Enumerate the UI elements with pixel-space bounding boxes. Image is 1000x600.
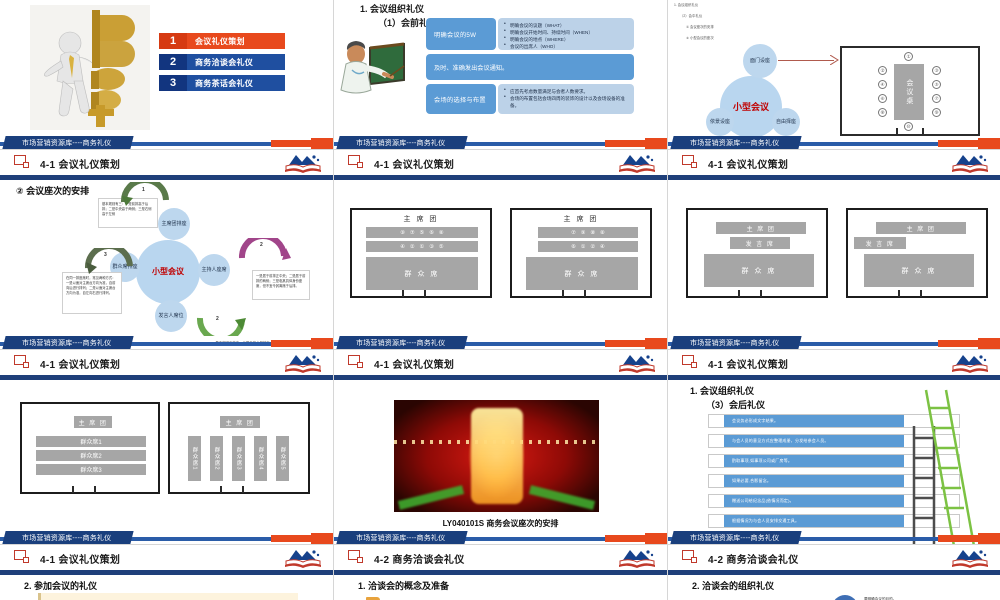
- slide-heading-2: （3）会后礼仪: [706, 398, 765, 411]
- audience-col-1: 群众席1: [188, 436, 201, 481]
- slide-title: 4-2 商务洽谈会礼仪: [374, 551, 465, 566]
- mountain-book-logo: [283, 153, 323, 173]
- footer-text: 市场营销资源库----商务礼仪: [22, 138, 111, 148]
- arc-number-3: 3: [104, 252, 107, 258]
- square-bullet-icon: [348, 355, 364, 369]
- toc-item-1[interactable]: 1 会议礼仪策划: [158, 32, 286, 50]
- slide-footer: 市场营销资源库----商务礼仪: [668, 135, 1000, 149]
- post-item-2: 与会人员的意见方式应整理成册，分发给参会人员。: [724, 435, 904, 447]
- seat-6: ⑥: [878, 94, 887, 103]
- slide-heading: 2. 参加会议的礼仪: [24, 579, 97, 592]
- arc-number-4: 2: [216, 316, 219, 322]
- slide-thumbnail-grid: 1 会议礼仪策划 2 商务洽谈会礼仪 3 商务茶话会礼仪 市场营销资源库----…: [0, 0, 1000, 600]
- satellite-top: 面门设座: [743, 44, 777, 78]
- seating-chart-left: 主 席 团 ⑨⑦ ⑤⑥ ⑧ ④② ①③ ⑤ 群 众 席: [350, 208, 492, 298]
- post-item-1: 会议务必形成文字结果。: [724, 415, 904, 427]
- seat-3: ③: [932, 66, 941, 75]
- mountain-book-logo: [617, 153, 657, 173]
- toc-item-2[interactable]: 2 商务洽谈会礼仪: [158, 53, 286, 71]
- slide-header: 4-1 会议礼仪策划: [0, 150, 333, 176]
- post-item-4: 如果必要,合影留念。: [724, 475, 904, 487]
- audience-row-1: 群众席1: [36, 436, 146, 447]
- toc-list: 1 会议礼仪策划 2 商务洽谈会礼仪 3 商务茶话会礼仪: [158, 32, 286, 95]
- node-presidium: 主席团排座: [158, 208, 190, 240]
- video-caption: LY040101S 商务会议座次的安排: [334, 518, 667, 529]
- toc-number: 1: [159, 33, 187, 49]
- presidium-row-back: ⑨⑦ ⑤⑥ ⑧: [366, 227, 478, 238]
- seating-chart-left: 主 席 团 发 言 席 群 众 席: [686, 208, 828, 298]
- slide-thumbnail-5[interactable]: 4-1 会议礼仪策划 主 席 团 ⑨⑦ ⑤⑥ ⑧: [334, 150, 668, 350]
- slide-footer: 市场营销资源库----商务礼仪: [668, 335, 1000, 349]
- slide-heading-1: 1. 会议组织礼仪: [690, 384, 754, 397]
- slide-header: 4-2 商务洽谈会礼仪: [668, 545, 1000, 571]
- seating-chart-horizontal: 主 席 团 群众席1 群众席2 群众席3: [20, 402, 160, 494]
- presidium-label: 主 席 团: [512, 212, 650, 225]
- mountain-book-logo: [950, 153, 990, 173]
- presidium-label: 主 席 团: [352, 212, 490, 225]
- slide-title: 4-1 会议礼仪策划: [708, 356, 788, 371]
- seat-7: ⑦: [932, 94, 941, 103]
- arrow-head-icon: [830, 55, 840, 65]
- audience-col-4: 群众席4: [254, 436, 267, 481]
- slide-heading: 1. 洽谈会的概念及准备: [358, 579, 449, 592]
- detail-item: 明确会议开始时间、持续时间（WHEN）: [504, 29, 628, 36]
- outline-item: 1. 会议组织礼仪: [674, 2, 714, 7]
- seat-5: ⑤: [932, 80, 941, 89]
- slide-thumbnail-12[interactable]: 4-2 商务洽谈会礼仪 2. 洽谈会的组织礼仪 会议主题 要明确会议的目的。: [668, 545, 1000, 600]
- teacher-illustration: [340, 40, 418, 90]
- detail-item: 明确会议的地点（WHERE）: [504, 36, 628, 43]
- mountain-book-logo: [617, 548, 657, 568]
- slide-title: 4-1 会议礼仪策划: [40, 356, 120, 371]
- presidium-block: 主 席 团: [876, 222, 966, 234]
- arrow-arc-2-icon: [238, 238, 292, 264]
- arrow-arc-3-icon: [84, 248, 136, 274]
- slide-title: 4-1 会议礼仪策划: [40, 156, 120, 171]
- slide-thumbnail-10[interactable]: 4-1 会议礼仪策划 2. 参加会议的礼仪: [0, 545, 334, 600]
- square-bullet-icon: [14, 355, 30, 369]
- outline-list: 1. 会议组织礼仪 （2）会中礼仪 ① 会议座次的安排 ② 小型会议的座次: [674, 2, 714, 46]
- note-3: 在同一排座席时，常见两种方式：一是以面对主席台方向为准，自前向后进行排列；二是以…: [62, 272, 122, 314]
- content-box: [38, 593, 298, 600]
- detail-item: 会议的出席人（WHO）: [504, 43, 628, 50]
- slide-thumbnail-8[interactable]: 4-1 会议礼仪策划 LY040101S 商务会议座次的安排 市场营销资源库--…: [334, 350, 668, 545]
- audience-row-3: 群众席3: [36, 464, 146, 475]
- slide-footer: 市场营销资源库----商务礼仪: [334, 530, 667, 544]
- presidium-row-front: ⑥① ②④: [538, 241, 638, 252]
- speaker-block: 发 言 席: [730, 237, 790, 249]
- footer-text: 市场营销资源库----商务礼仪: [690, 533, 779, 543]
- footer-text: 市场营销资源库----商务礼仪: [356, 338, 445, 348]
- presidium-row-front: ④② ①③ ⑤: [366, 241, 478, 252]
- video-thumbnail[interactable]: [394, 400, 599, 512]
- slide-thumbnail-2[interactable]: 1. 会议组织礼仪 （1）会前礼仪 明确会议的5W: [334, 0, 668, 150]
- slide-heading-1: 1. 会议组织礼仪: [360, 2, 424, 15]
- slide-title: 4-1 会议礼仪策划: [708, 156, 788, 171]
- satellite-right: 自由择座: [772, 108, 800, 136]
- slide-thumbnail-7[interactable]: 4-1 会议礼仪策划 主 席 团 群众席1 群众席2 群众席3: [0, 350, 334, 545]
- slide-title: 4-1 会议礼仪策划: [40, 551, 120, 566]
- slide-title: 4-2 商务洽谈会礼仪: [708, 551, 799, 566]
- seat-1: ①: [904, 52, 913, 61]
- speaker-block: 发 言 席: [854, 237, 906, 249]
- slide-header: 4-1 会议礼仪策划: [668, 150, 1000, 176]
- slide-thumbnail-11[interactable]: 4-2 商务洽谈会礼仪 1. 洽谈会的概念及准备: [334, 545, 668, 600]
- arrow-arc-4-icon: [196, 310, 248, 336]
- arrow-arc-1-icon: [120, 182, 174, 206]
- presidium-block: 主 席 团: [716, 222, 806, 234]
- node-speaker: 发言人席位: [155, 300, 187, 332]
- audience-col-5: 群众席5: [276, 436, 289, 481]
- audience-col-2: 群众席2: [210, 436, 223, 481]
- presidium-block: 主 席 团: [74, 416, 112, 428]
- audience-block: 群 众 席: [366, 257, 478, 290]
- toc-item-3[interactable]: 3 商务茶话会礼仪: [158, 74, 286, 92]
- audience-row-2: 群众席2: [36, 450, 146, 461]
- block-details-3: 应首先考虑数量满足与会者人数要求。 会场的布置包括会场四周的装饰的设计以及会场设…: [498, 84, 634, 114]
- post-item-6: 根据情况为与会人员安排交通工具。: [724, 515, 904, 527]
- slide-header: 4-1 会议礼仪策划: [0, 545, 333, 571]
- slide-header: 4-1 会议礼仪策划: [334, 350, 667, 376]
- meeting-table-label: 会议桌: [894, 64, 924, 120]
- slide-title: 4-1 会议礼仪策划: [374, 356, 454, 371]
- square-bullet-icon: [682, 355, 698, 369]
- outline-item: （2）会中礼仪: [680, 13, 714, 18]
- outline-item: ② 小型会议的座次: [686, 35, 714, 40]
- toc-label: 会议礼仪策划: [187, 33, 285, 49]
- footer-text: 市场营销资源库----商务礼仪: [22, 338, 111, 348]
- arc-number-1: 1: [142, 187, 145, 193]
- seat-8: ⑧: [878, 108, 887, 117]
- slide-thumbnail-9[interactable]: 4-1 会议礼仪策划 1. 会议组织礼仪 （3）会后礼仪 会议务必形成文字结果。…: [668, 350, 1000, 545]
- audience-block: 群 众 席: [704, 254, 814, 287]
- square-bullet-icon: [14, 550, 30, 564]
- audience-block: 群 众 席: [526, 257, 638, 290]
- footer-text: 市场营销资源库----商务礼仪: [690, 138, 779, 148]
- seat-2: ②: [878, 66, 887, 75]
- seat-9: ⑨: [932, 108, 941, 117]
- node-host: 主持人座席: [198, 254, 230, 286]
- square-bullet-icon: [14, 155, 30, 169]
- mountain-book-logo: [617, 353, 657, 373]
- slide-subtitle: ② 会议座次的安排: [16, 184, 89, 197]
- topic-badge: 会议主题: [832, 595, 858, 600]
- post-item-5: 赠送公司给纪念品(依情况而定)。: [724, 495, 904, 507]
- mountain-book-logo: [283, 548, 323, 568]
- square-bullet-icon: [348, 550, 364, 564]
- square-bullet-icon: [682, 550, 698, 564]
- presidium-block: 主 席 团: [220, 416, 260, 428]
- slide-header: 4-1 会议礼仪策划: [334, 150, 667, 176]
- slide-header: 4-2 商务洽谈会礼仪: [334, 545, 667, 571]
- best-hero-image: [30, 5, 150, 130]
- toc-label: 商务洽谈会礼仪: [187, 54, 285, 70]
- square-bullet-icon: [348, 155, 364, 169]
- detail-item: 明确会议的议题（WHAT）: [504, 22, 628, 29]
- presidium-row-back: ⑦⑨ ⑩⑧: [538, 227, 638, 238]
- satellite-left: 依景设座: [706, 108, 734, 136]
- toc-label: 商务茶话会礼仪: [187, 75, 285, 91]
- footer-text: 市场营销资源库----商务礼仪: [22, 533, 111, 543]
- toc-number: 2: [159, 54, 187, 70]
- square-bullet-icon: [682, 155, 698, 169]
- slide-footer: 市场营销资源库----商务礼仪: [0, 135, 333, 149]
- slide-header: 4-1 会议礼仪策划: [0, 350, 333, 376]
- slide-thumbnail-3[interactable]: 1. 会议组织礼仪 （2）会中礼仪 ① 会议座次的安排 ② 小型会议的座次 小型…: [668, 0, 1000, 150]
- slide-thumbnail-1[interactable]: 1 会议礼仪策划 2 商务洽谈会礼仪 3 商务茶话会礼仪 市场营销资源库----…: [0, 0, 334, 150]
- slide-thumbnail-4[interactable]: 4-1 会议礼仪策划 ② 会议座次的安排 小型会议 主席团排座 主持人座席 群众…: [0, 150, 334, 350]
- footer-text: 市场营销资源库----商务礼仪: [356, 533, 445, 543]
- toc-number: 3: [159, 75, 187, 91]
- detail-item: 会场的布置包括会场四周的装饰的设计以及会场设备的准备。: [504, 95, 628, 109]
- pointer-arrow: [778, 60, 834, 61]
- slide-footer: 市场营销资源库----商务礼仪: [0, 530, 333, 544]
- footer-text: 市场营销资源库----商务礼仪: [690, 338, 779, 348]
- slide-thumbnail-6[interactable]: 4-1 会议礼仪策划 主 席 团 发 言 席 群 众 席 主 席 团: [668, 150, 1000, 350]
- mountain-book-logo: [950, 548, 990, 568]
- footer-text: 市场营销资源库----商务礼仪: [356, 138, 445, 148]
- slide-footer: 市场营销资源库----商务礼仪: [0, 335, 333, 349]
- arc-number-2: 2: [260, 242, 263, 248]
- mountain-book-logo: [950, 353, 990, 373]
- slide-heading: 2. 洽谈会的组织礼仪: [692, 579, 774, 592]
- slide-footer: 市场营销资源库----商务礼仪: [668, 530, 1000, 544]
- audience-col-3: 群众席3: [232, 436, 245, 481]
- slide-header: 4-1 会议礼仪策划: [668, 350, 1000, 376]
- mountain-book-logo: [283, 353, 323, 373]
- center-circle-label: 小型会议: [136, 240, 200, 304]
- ladder-graphic: [904, 386, 994, 545]
- meeting-room-diagram: 会议桌 ① ② ③ ④ ⑤ ⑥ ⑦ ⑧ ⑨ ⑩: [840, 46, 980, 136]
- slide-title: 4-1 会议礼仪策划: [374, 156, 454, 171]
- seat-4: ④: [878, 80, 887, 89]
- block-details-1: 明确会议的议题（WHAT） 明确会议开始时间、持续时间（WHEN） 明确会议的地…: [498, 18, 634, 50]
- audience-block: 群 众 席: [864, 254, 974, 287]
- seating-chart-right: 主 席 团 ⑦⑨ ⑩⑧ ⑥① ②④ 群 众 席: [510, 208, 652, 298]
- seating-chart-vertical: 主 席 团 群众席1 群众席2 群众席3 群众席4 群众席5: [168, 402, 310, 494]
- slide-footer: 市场营销资源库----商务礼仪: [334, 335, 667, 349]
- note-2: 一是居于前排正中央；二是居于前排的两侧；三是临其具体身份座席，但不宜令其离席于后…: [252, 270, 310, 300]
- block-label-1: 明确会议的5W: [426, 18, 496, 50]
- block-label-2: 及时、准确发出会议通知。: [426, 54, 634, 80]
- block-label-3: 会场的选择与布置: [426, 84, 496, 114]
- seating-chart-right: 主 席 团 发 言 席 群 众 席: [846, 208, 988, 298]
- post-item-3: 酌取事项,如事项公司或厂房等。: [724, 455, 904, 467]
- detail-item: 应首先考虑数量满足与会者人数要求。: [504, 88, 628, 95]
- slide-footer: 市场营销资源库----商务礼仪: [334, 135, 667, 149]
- seat-10: ⑩: [904, 122, 913, 131]
- outline-item: ① 会议座次的安排: [686, 24, 714, 29]
